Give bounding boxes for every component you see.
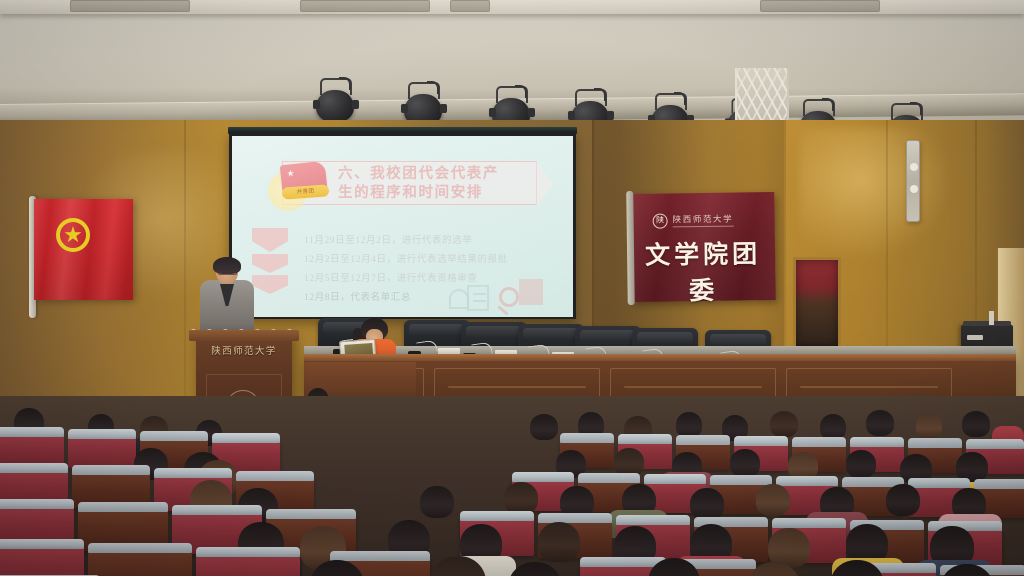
block-shape-icon	[519, 279, 543, 305]
slide-deco-dots: ···	[557, 284, 567, 291]
banner-university-line: 陕西师范大学	[673, 213, 734, 228]
projection-screen: ★ 共青团 六、我校团代会代表产 生的程序和时间安排 11月29日至12月2日，…	[232, 136, 573, 317]
magnifier-icon	[499, 287, 519, 307]
person-icon	[449, 289, 469, 309]
projection-screen-frame: ★ 共青团 六、我校团代会代表产 生的程序和时间安排 11月29日至12月2日，…	[229, 133, 576, 319]
attendee-head	[886, 484, 920, 516]
audience-seating	[0, 396, 1024, 576]
slide-title-line-2: 生的程序和时间安排	[338, 184, 538, 203]
ceiling-grille	[300, 0, 430, 12]
glasses-icon	[218, 271, 237, 275]
attendee-head	[530, 414, 558, 440]
department-banner: 陕 陕西师范大学 文学院团委	[630, 192, 775, 302]
attendee-head	[730, 449, 760, 477]
seat	[68, 436, 136, 468]
attendee-head	[420, 486, 454, 518]
communist-youth-league-flag: ★	[34, 199, 133, 300]
slide-bullet: 11月29日至12月2日，进行代表的选举	[304, 232, 554, 251]
ceiling-grille	[760, 0, 880, 12]
star-icon: ★	[286, 169, 295, 179]
magnifier-handle-icon	[497, 305, 508, 315]
banner-department-line: 文学院团委	[631, 234, 776, 308]
star-icon: ★	[63, 224, 83, 246]
wall-light-glow	[800, 128, 950, 258]
attendee-head	[756, 484, 790, 516]
wall-speaker-icon	[906, 140, 920, 222]
attendee-head	[866, 410, 894, 436]
slide-title-line-1: 六、我校团代会代表产	[338, 165, 538, 184]
chevron-down-icon-group	[252, 228, 288, 308]
document-icon	[467, 285, 489, 311]
wall-recess-window	[793, 257, 841, 349]
seat	[0, 546, 84, 576]
attendee-head	[504, 482, 538, 514]
ceiling-grille	[450, 0, 490, 12]
attendee-head	[538, 522, 580, 562]
attendee-head	[770, 411, 798, 437]
university-logo-icon: 陕	[653, 213, 668, 228]
attendee-head	[916, 413, 942, 439]
seat	[0, 434, 64, 466]
youth-league-emblem-icon: ★	[56, 218, 90, 252]
attendee-head	[962, 411, 990, 437]
slide-title-block: ★ 共青团 六、我校团代会代表产 生的程序和时间安排	[282, 161, 554, 207]
attendee-head	[614, 448, 644, 476]
banner-logo-row: 陕 陕西师范大学	[653, 211, 753, 228]
auditorium-photo: ★ 陕 陕西师范大学 文学院团委 ★ 共青团 六、我校团代会代表产 生的程序和时…	[0, 0, 1024, 576]
podium-nameplate: 陕西师范大学	[204, 344, 284, 360]
seat	[196, 554, 300, 576]
seat	[88, 550, 192, 576]
attendee-head	[846, 450, 876, 478]
wall-seam	[184, 120, 186, 420]
ceiling-grille	[70, 0, 190, 12]
slide-bullet: 12月2日至12月4日，进行代表选举结果的报批	[304, 251, 554, 270]
attendee-head	[690, 488, 724, 520]
slide-decoration-icons: ···	[449, 271, 567, 313]
slide-title: 六、我校团代会代表产 生的程序和时间安排	[338, 165, 538, 203]
